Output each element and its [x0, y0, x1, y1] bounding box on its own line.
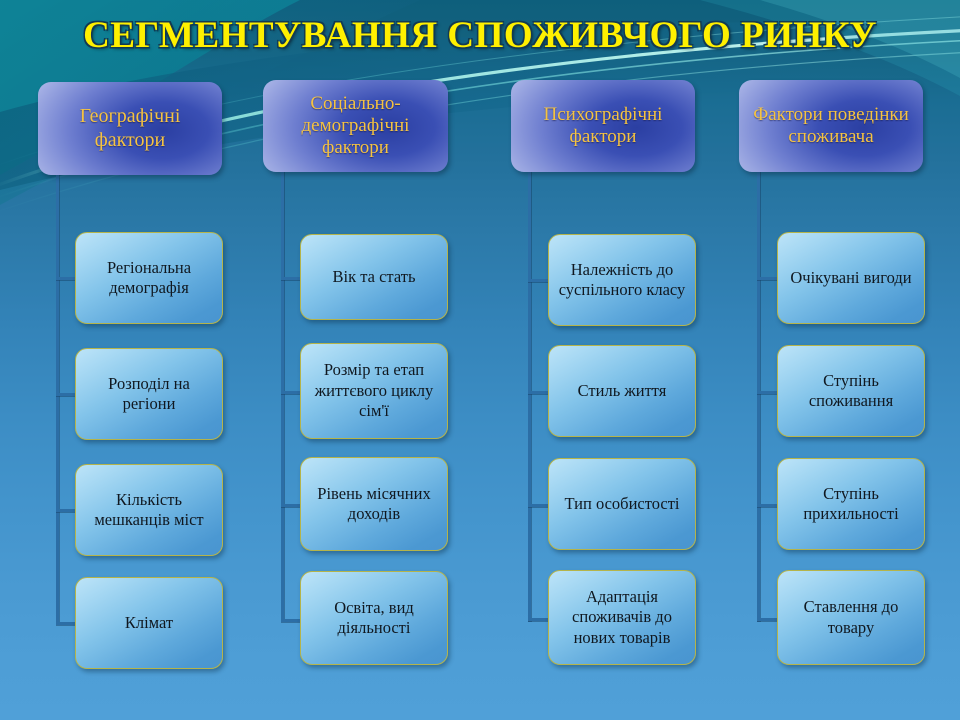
connector-stub-col1-item3 — [56, 509, 77, 512]
connector-stub-col2-item2 — [281, 391, 302, 394]
item-col2-family-size-lifecycle[interactable]: Розмір та етап життєвого циклу сім'ї — [300, 343, 448, 439]
column-header-geographic[interactable]: Географічні фактори — [38, 82, 222, 175]
item-col3-adaptation-to-new-products[interactable]: Адаптація споживачів до нових товарів — [548, 570, 696, 665]
connector-vertical-col1 — [56, 175, 59, 625]
connector-stub-col2-item3 — [281, 504, 302, 507]
item-label: Стиль життя — [578, 381, 667, 401]
connector-stub-col4-item3 — [757, 504, 778, 507]
connector-vertical-col4 — [757, 172, 760, 622]
item-label: Належність до суспільного класу — [555, 260, 689, 301]
item-col2-education-occupation[interactable]: Освіта, вид діяльності — [300, 571, 448, 665]
connector-vertical-col3 — [528, 172, 531, 622]
item-label: Тип особистості — [564, 494, 679, 514]
column-header-consumer-behavior[interactable]: Фактори поведінки споживача — [739, 80, 923, 172]
item-label: Очікувані вигоди — [790, 268, 911, 288]
item-label: Вік та стать — [333, 267, 416, 287]
item-col1-regional-demography[interactable]: Регіональна демографія — [75, 232, 223, 324]
item-col2-age-and-gender[interactable]: Вік та стать — [300, 234, 448, 320]
connector-stub-col1-item2 — [56, 393, 77, 396]
connector-stub-col4-item4 — [757, 618, 778, 621]
column-header-socio-demographic-label: Соціально-демографічні фактори — [271, 93, 440, 160]
item-label: Ступінь споживання — [784, 371, 918, 412]
item-col2-monthly-income-level[interactable]: Рівень місячних доходів — [300, 457, 448, 551]
connector-stub-col3-item4 — [528, 618, 549, 621]
item-col1-city-population[interactable]: Кількість мешканців міст — [75, 464, 223, 556]
connector-stub-col2-item1 — [281, 277, 302, 280]
column-header-geographic-label: Географічні фактори — [46, 105, 214, 152]
item-label: Регіональна демографія — [82, 258, 216, 299]
item-label: Ступінь прихильності — [784, 484, 918, 525]
column-header-consumer-behavior-label: Фактори поведінки споживача — [747, 104, 915, 148]
connector-stub-col4-item1 — [757, 277, 778, 280]
column-header-socio-demographic[interactable]: Соціально-демографічні фактори — [263, 80, 448, 172]
connector-stub-col3-item1 — [528, 279, 549, 282]
connector-stub-col4-item2 — [757, 391, 778, 394]
column-header-psychographic-label: Психографічні фактори — [519, 104, 687, 148]
item-label: Рівень місячних доходів — [307, 484, 441, 525]
connector-stub-col2-item4 — [281, 619, 302, 622]
slide-title: СЕГМЕНТУВАННЯ СПОЖИВЧОГО РИНКУ — [0, 14, 960, 57]
item-col4-expected-benefits[interactable]: Очікувані вигоди — [777, 232, 925, 324]
item-label: Розмір та етап життєвого циклу сім'ї — [307, 360, 441, 421]
item-label: Освіта, вид діяльності — [307, 598, 441, 639]
item-col3-social-class-membership[interactable]: Належність до суспільного класу — [548, 234, 696, 326]
connector-stub-col3-item2 — [528, 391, 549, 394]
item-label: Адаптація споживачів до нових товарів — [555, 587, 689, 648]
item-label: Ставлення до товару — [784, 597, 918, 638]
item-col4-consumption-level[interactable]: Ступінь споживання — [777, 345, 925, 437]
item-col1-distribution-by-region[interactable]: Розподіл на регіони — [75, 348, 223, 440]
connector-vertical-col2 — [281, 172, 284, 622]
connector-stub-col3-item3 — [528, 504, 549, 507]
item-col4-attitude-to-product[interactable]: Ставлення до товару — [777, 570, 925, 665]
column-header-psychographic[interactable]: Психографічні фактори — [511, 80, 695, 172]
item-col4-loyalty-level[interactable]: Ступінь прихильності — [777, 458, 925, 550]
item-col1-climate[interactable]: Клімат — [75, 577, 223, 669]
connector-stub-col1-item1 — [56, 277, 77, 280]
item-label: Клімат — [125, 613, 173, 633]
item-label: Розподіл на регіони — [82, 374, 216, 415]
item-col3-personality-type[interactable]: Тип особистості — [548, 458, 696, 550]
slide-canvas: СЕГМЕНТУВАННЯ СПОЖИВЧОГО РИНКУ Географіч… — [0, 0, 960, 720]
item-col3-lifestyle[interactable]: Стиль життя — [548, 345, 696, 437]
item-label: Кількість мешканців міст — [82, 490, 216, 531]
connector-stub-col1-item4 — [56, 622, 77, 625]
